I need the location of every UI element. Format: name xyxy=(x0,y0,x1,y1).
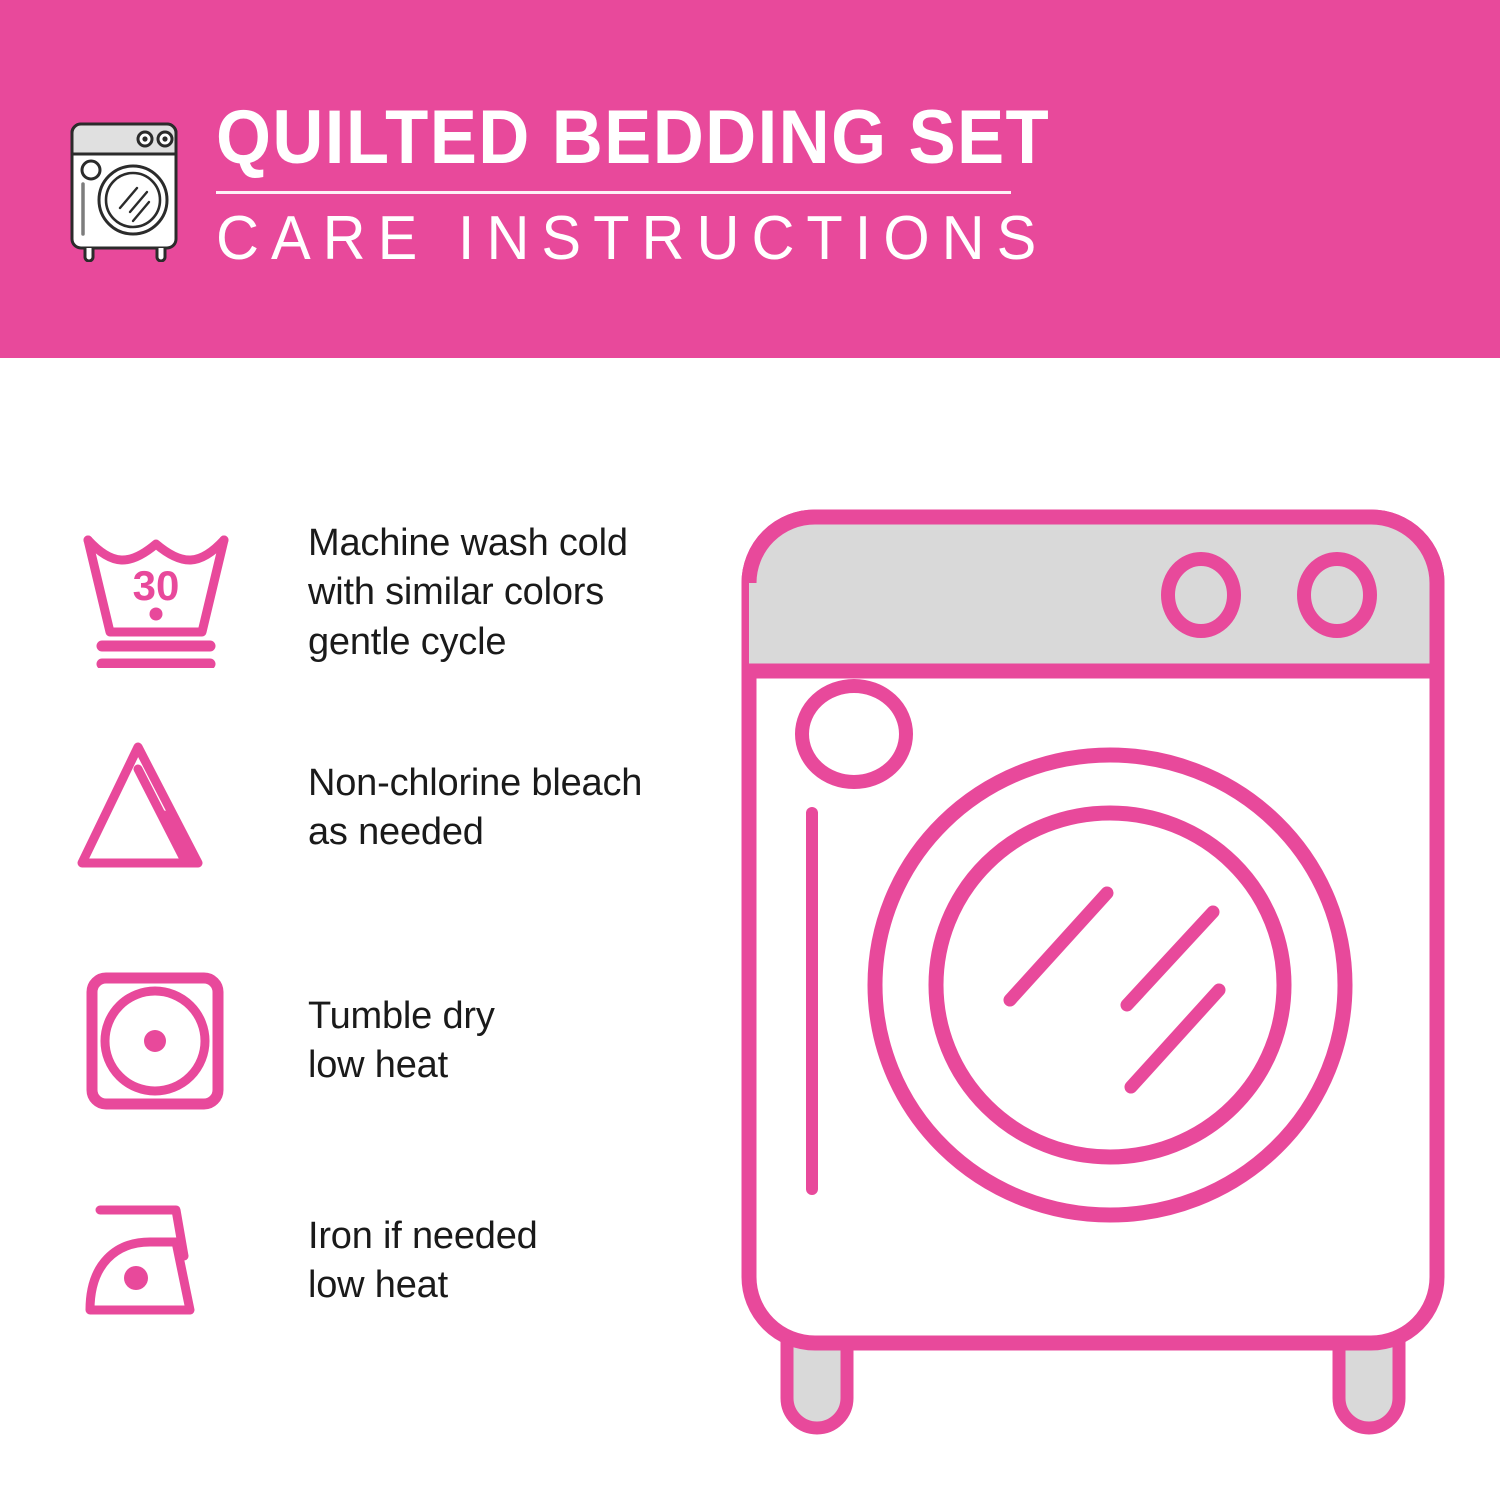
page-title: QUILTED BEDDING SET xyxy=(216,100,1050,176)
washer-door-inner-ring xyxy=(936,813,1284,1157)
header-text-group: QUILTED BEDDING SET CARE INSTRUCTIONS xyxy=(216,100,1113,270)
iron-low-heat-icon xyxy=(72,1186,240,1336)
title-divider xyxy=(216,191,1011,194)
washer-leg-right xyxy=(1339,1340,1399,1428)
wash-temperature-value: 30 xyxy=(133,562,180,609)
washing-machine-icon xyxy=(66,108,190,262)
header-banner: QUILTED BEDDING SET CARE INSTRUCTIONS xyxy=(0,0,1500,358)
washer-leg-left xyxy=(787,1340,847,1428)
page-subtitle: CARE INSTRUCTIONS xyxy=(216,208,1077,270)
care-item-label: Machine wash cold with similar colors ge… xyxy=(308,519,628,667)
wash-tub-30-icon: 30 xyxy=(72,518,240,668)
care-item-machine-wash: 30 Machine wash cold with similar colors… xyxy=(72,518,628,668)
care-item-bleach: Non-chlorine bleach as needed xyxy=(72,733,642,883)
care-item-label: Iron if needed low heat xyxy=(308,1212,538,1311)
washing-machine-illustration xyxy=(735,495,1451,1445)
tumble-dry-low-icon xyxy=(72,966,240,1116)
header-content: QUILTED BEDDING SET CARE INSTRUCTIONS xyxy=(66,100,1113,270)
care-instructions-list: 30 Machine wash cold with similar colors… xyxy=(0,358,720,1500)
washer-knob-1 xyxy=(1168,559,1234,631)
care-item-tumble-dry: Tumble dry low heat xyxy=(72,966,495,1116)
care-item-label: Non-chlorine bleach as needed xyxy=(308,759,642,858)
washer-knob-2 xyxy=(1304,559,1370,631)
non-chlorine-bleach-triangle-icon xyxy=(72,733,240,883)
care-item-iron: Iron if needed low heat xyxy=(72,1186,538,1336)
washer-dispenser-icon xyxy=(802,686,906,782)
care-item-label: Tumble dry low heat xyxy=(308,992,495,1091)
